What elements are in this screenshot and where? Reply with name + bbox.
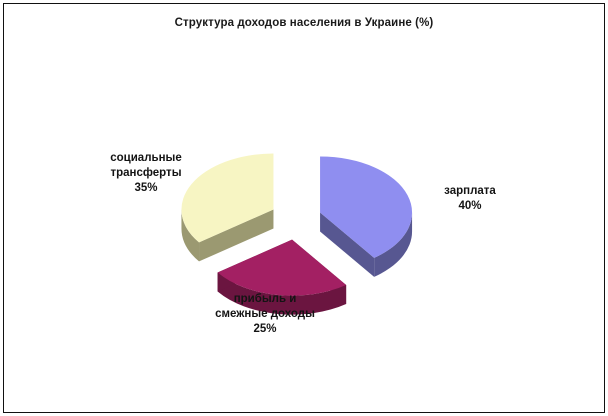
slice-label-social: социальные трансферты 35% — [88, 151, 204, 196]
slice-label-salary-line1: зарплата — [415, 184, 525, 199]
slice-label-salary: зарплата 40% — [415, 184, 525, 214]
slice-label-salary-value: 40% — [415, 199, 525, 214]
slice-label-profit-value: 25% — [182, 322, 348, 337]
slice-label-profit-line1: прибыль и — [182, 292, 348, 307]
pie-slices-group — [181, 154, 412, 315]
slice-label-profit: прибыль и смежные доходы 25% — [182, 292, 348, 337]
chart-canvas: Структура доходов населения в Украине (%… — [0, 0, 608, 416]
slice-label-social-value: 35% — [88, 181, 204, 196]
slice-label-profit-line2: смежные доходы — [182, 307, 348, 322]
slice-label-social-line1: социальные — [88, 151, 204, 166]
slice-label-social-line2: трансферты — [88, 166, 204, 181]
